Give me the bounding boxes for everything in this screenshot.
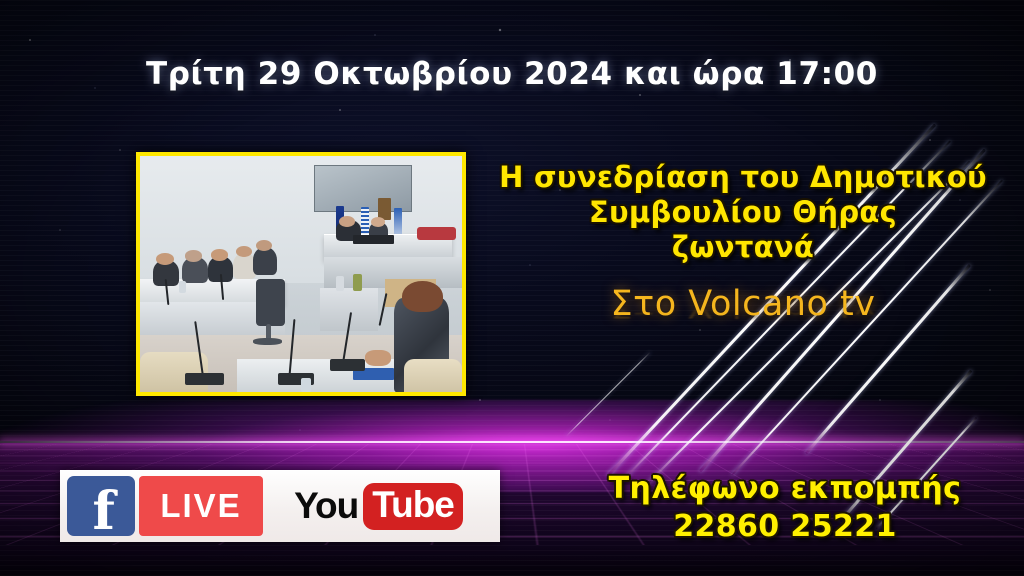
phone-label: Τηλέφωνο εκπομπής: [560, 470, 1010, 508]
horizon-light-line: [0, 441, 1024, 443]
headline: Η συνεδρίαση του Δημοτικού Συμβουλίου Θή…: [478, 160, 1008, 265]
youtube-icon[interactable]: You Tube: [263, 470, 500, 542]
bottle: [353, 274, 363, 291]
office-chair: [253, 338, 282, 345]
council-photo: [136, 152, 466, 396]
phone-number: 22860 25221: [560, 508, 1010, 546]
person: [236, 246, 252, 257]
channel-name-reflection: Στο Volcano tv: [478, 299, 1008, 321]
bottle: [179, 281, 186, 293]
person: [185, 250, 202, 261]
live-badge[interactable]: LIVE: [139, 476, 263, 536]
social-logo-bar[interactable]: f LIVE You Tube: [60, 470, 500, 542]
youtube-tube-text: Tube: [363, 483, 463, 530]
person: [256, 240, 272, 251]
date-banner: Τρίτη 29 Οκτωβρίου 2024 και ώρα 17:00: [0, 56, 1024, 92]
office-chair: [256, 279, 285, 326]
person: [339, 216, 355, 227]
broadcast-announcement-slide: Τρίτη 29 Οκτωβρίου 2024 και ώρα 17:00: [0, 0, 1024, 576]
council-photo-image: [140, 156, 462, 392]
armchair: [140, 352, 208, 392]
hand: [365, 350, 391, 367]
person-foreground-head: [402, 281, 442, 312]
headline-line-1: Η συνεδρίαση του Δημοτικού: [478, 160, 1008, 195]
person: [253, 247, 277, 275]
phone-block: Τηλέφωνο εκπομπής 22860 25221: [560, 470, 1010, 546]
projection-screen: [314, 165, 413, 212]
person: [371, 217, 385, 227]
facebook-icon[interactable]: f: [67, 476, 135, 536]
headline-line-3: ζωντανά: [478, 230, 1008, 265]
bottle: [301, 378, 311, 392]
facebook-f-glyph: f: [92, 486, 114, 538]
person: [156, 253, 174, 265]
live-badge-label: LIVE: [160, 487, 241, 525]
microphone-base: [185, 373, 224, 385]
youtube-you-text: You: [294, 485, 358, 527]
laptop: [353, 235, 395, 244]
microphone-base: [330, 359, 365, 371]
headline-line-2: Συμβουλίου Θήρας: [478, 195, 1008, 230]
person: [211, 249, 228, 260]
channel-name-block: Στο Volcano tv Στο Volcano tv: [478, 284, 1008, 361]
armchair: [404, 359, 462, 392]
red-object: [417, 227, 456, 240]
bottle: [336, 276, 344, 290]
date-banner-text: Τρίτη 29 Οκτωβρίου 2024 και ώρα 17:00: [146, 56, 878, 92]
